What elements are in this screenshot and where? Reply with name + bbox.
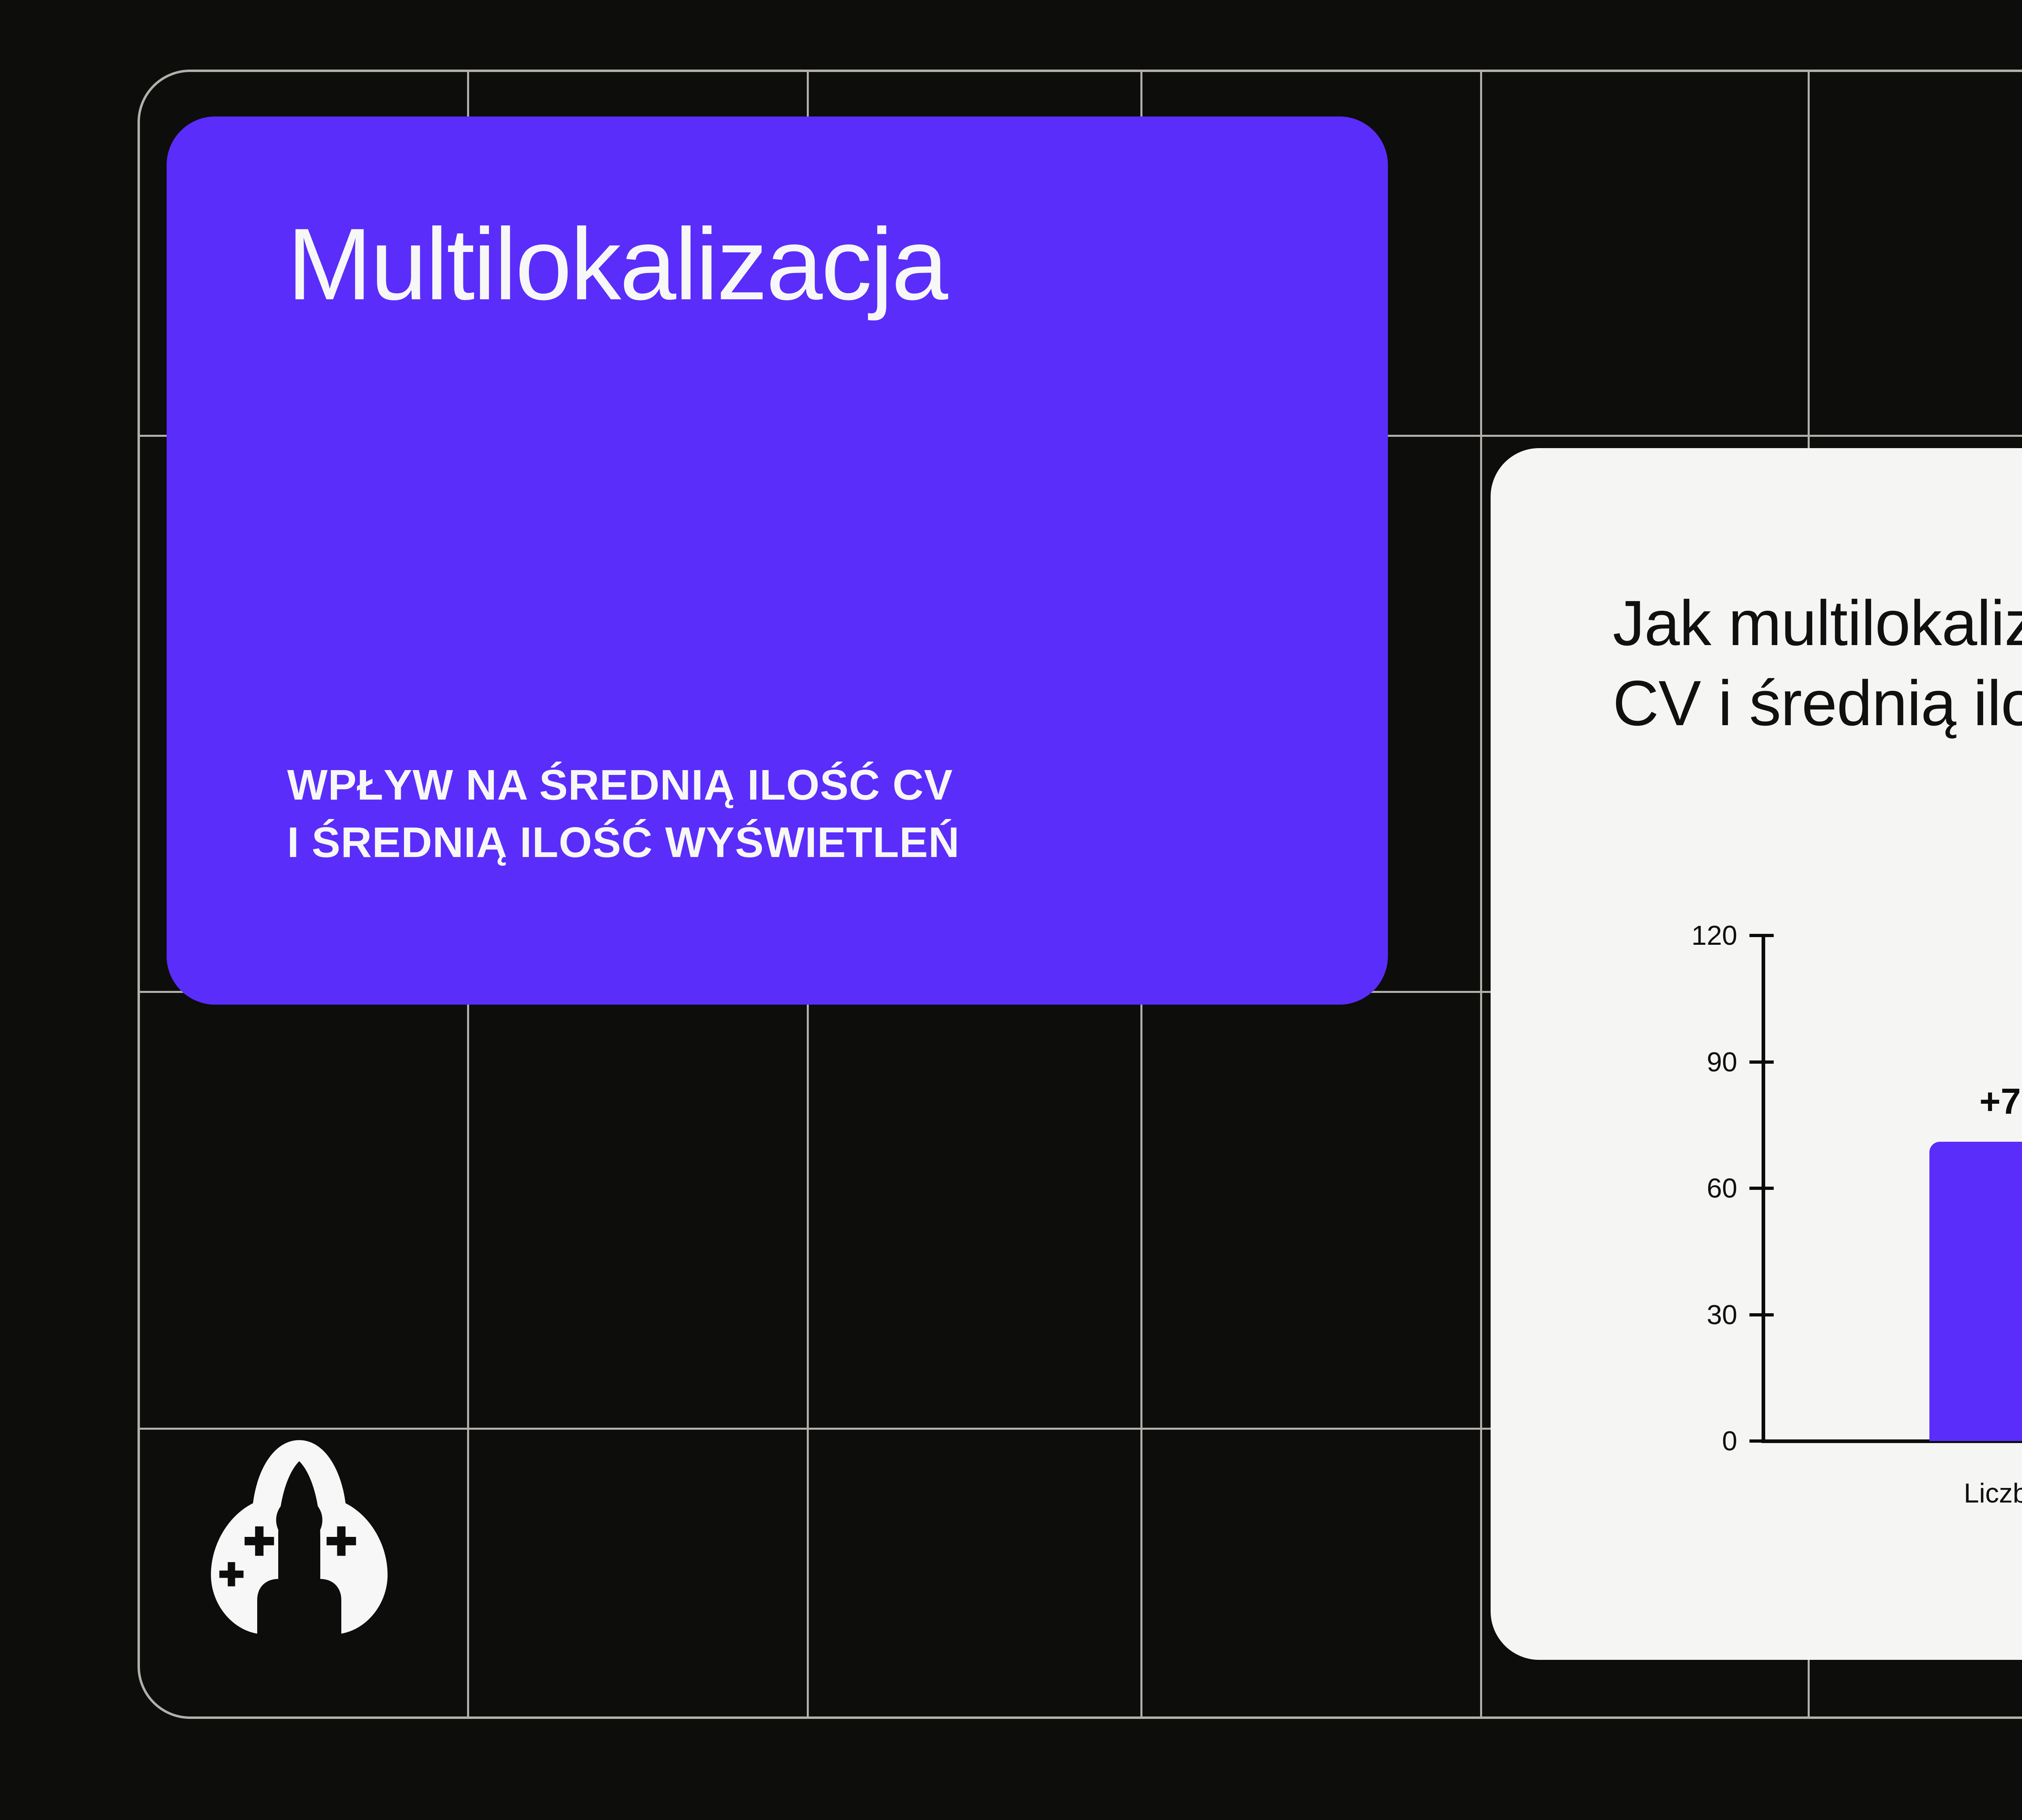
chart-card: Jak multilokalizacja wpływa na średnią i… [1491,448,2022,1660]
chart-plot-area: 0306090120 +71%+92% [1762,935,2022,1441]
y-axis-tick-label: 30 [1707,1299,1737,1331]
grid-line-vertical-4 [1480,70,1482,1719]
y-axis-tick [1749,1313,1774,1316]
y-axis-tick-label: 60 [1707,1172,1737,1204]
y-axis-tick [1749,1060,1774,1064]
y-axis-tick [1749,1187,1774,1190]
page-title: Multilokalizacja [287,214,947,315]
bar-chart: 0306090120 +71%+92% Liczba CVLiczba wyśw… [1592,935,2022,1566]
bar-value-label: +71% [1929,1081,2022,1123]
y-axis-tick-label: 90 [1707,1046,1737,1078]
x-axis-category-label: Liczba CV [1824,1477,2022,1509]
y-axis-tick [1749,1439,1774,1443]
y-axis-tick-label: 120 [1692,920,1737,951]
page-subtitle: WPŁYW NA ŚREDNIĄ ILOŚĆ CV I ŚREDNIĄ ILOŚ… [287,756,960,871]
purple-headline-card: Multilokalizacja WPŁYW NA ŚREDNIĄ ILOŚĆ … [167,116,1388,1005]
y-axis-tick-label: 0 [1722,1425,1737,1457]
chart-question-title: Jak multilokalizacja wpływa na średnią i… [1613,584,2022,743]
bar: +71% [1929,1142,2022,1441]
rocket-icon [194,1432,404,1642]
y-axis-tick [1749,934,1774,937]
slide-root: Multilokalizacja WPŁYW NA ŚREDNIĄ ILOŚĆ … [0,0,2022,1820]
